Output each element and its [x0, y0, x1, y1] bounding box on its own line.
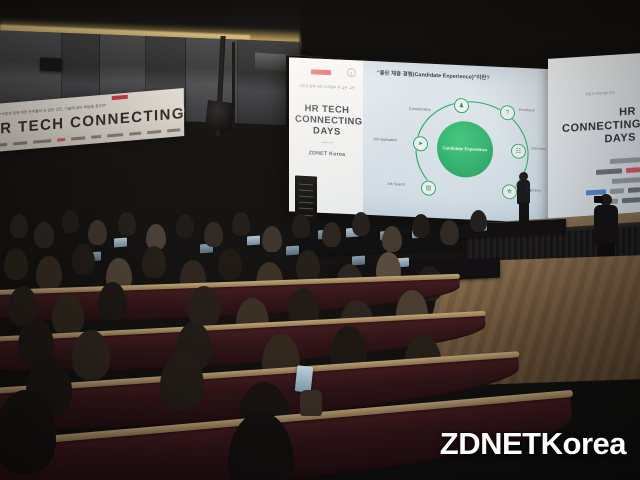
node-onboarding: ✲ — [502, 184, 517, 200]
node-interview: ☷ — [511, 143, 526, 159]
hand-holding-phone — [300, 390, 322, 416]
audience-head — [470, 210, 487, 232]
speaker-on-stage — [516, 172, 532, 225]
audience-head — [62, 210, 79, 233]
watermark-brand: ZDNET — [440, 426, 541, 461]
zdnet-korea-watermark: ZDNETKorea — [440, 426, 626, 462]
banner-logo-mark — [112, 95, 128, 100]
projection-screen: 1 사람과 일에 대한 우리들의 속 깊은 고민 HR TECH CONNECT… — [289, 57, 583, 224]
node-label-feedback: Feedback — [519, 108, 535, 113]
node-feedback: ? — [500, 105, 515, 121]
audience-head — [262, 226, 282, 252]
slide-divider — [321, 142, 333, 144]
audience-head — [176, 214, 194, 238]
diagram-center-label: Candidate Experience — [443, 146, 488, 154]
slide-page-number: 1 — [347, 68, 356, 77]
audience-head — [88, 220, 107, 245]
smartphone-screen — [295, 365, 314, 393]
audience-head — [98, 282, 127, 321]
laptop — [247, 236, 260, 246]
laptop — [352, 256, 365, 266]
audience-head — [142, 246, 166, 278]
audience-head — [412, 214, 430, 238]
audience-head — [440, 220, 459, 245]
audience-head — [218, 248, 242, 280]
node-label-interview: Interview — [531, 146, 545, 151]
audience-head — [204, 222, 223, 247]
slide-event-title: HR TECH CONNECTING DAYS — [295, 102, 359, 138]
audience-head — [4, 248, 28, 280]
audience-head — [322, 222, 341, 247]
node-job-search: ▤ — [421, 180, 436, 196]
laptop — [114, 238, 127, 248]
laptop — [286, 246, 299, 256]
audience-head — [52, 294, 84, 336]
node-job-application: ➤ — [413, 136, 428, 152]
right-banner-korean: 사람과 일에 대한 고민 — [570, 90, 630, 98]
audience-head — [292, 214, 310, 238]
slide-korean-subtitle: 사람과 일에 대한 우리들의 속 깊은 고민 — [298, 84, 356, 91]
watermark-sub: Korea — [541, 426, 626, 461]
ceiling-speaker — [40, 57, 62, 71]
node-label-job-search: Job Search — [387, 182, 405, 187]
photo-scene: "사람과 일에 대한 우리들의 속 깊은 고민, 기술에 담아 해답을 찾으려"… — [0, 0, 640, 480]
audience-head — [352, 212, 370, 236]
audience-head — [296, 250, 320, 282]
slide-brand: ZDNET Korea — [295, 150, 359, 159]
audience-head — [10, 214, 28, 238]
audience-head — [34, 222, 54, 248]
node-consideration: ♟ — [454, 98, 469, 114]
zdnet-logo-mark-icon — [311, 69, 331, 75]
candidate-experience-diagram: Candidate Experience ♟ Consideration ? F… — [369, 81, 577, 218]
hanging-rig — [205, 100, 235, 134]
audience-head — [72, 244, 95, 275]
audience-head — [382, 226, 402, 252]
audience-head — [36, 256, 62, 290]
audience-head — [118, 212, 136, 236]
right-banner-title: HR CONNECTING DAYS — [562, 105, 636, 149]
audience-head — [232, 212, 250, 236]
camera-icon — [594, 196, 603, 203]
